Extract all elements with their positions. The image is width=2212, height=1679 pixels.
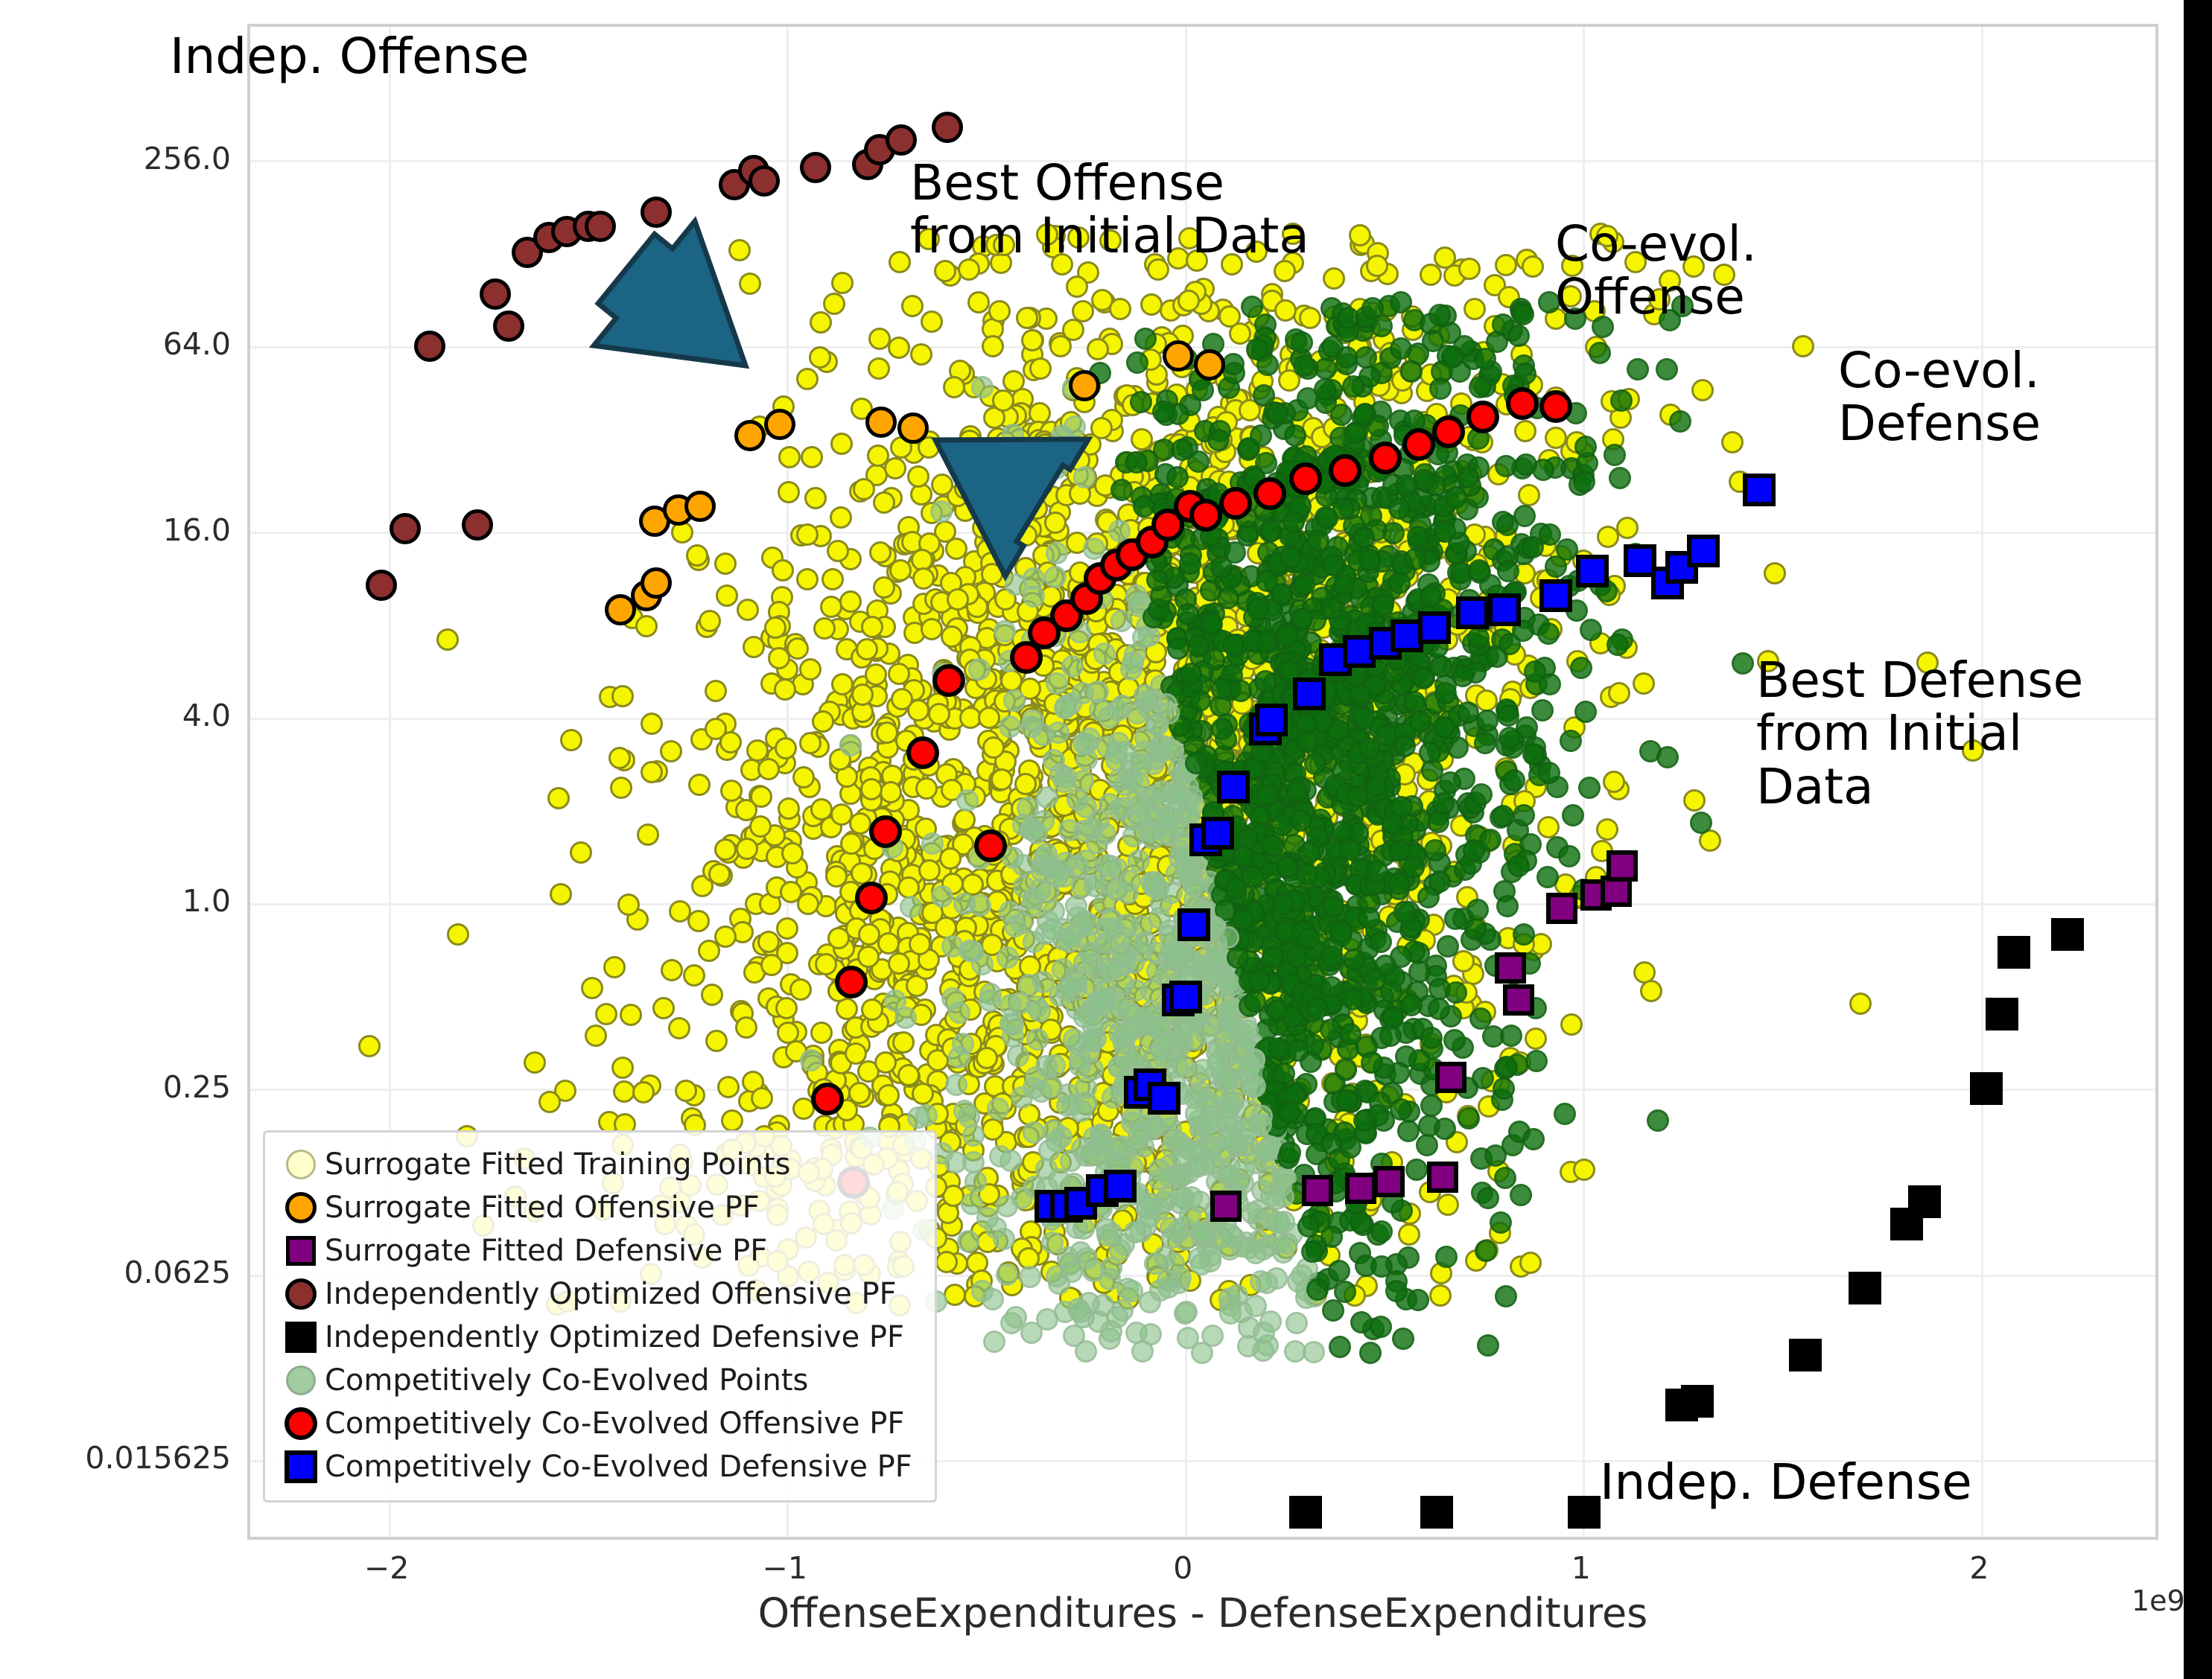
scatter-figure: 256.064.016.04.01.00.250.06250.015625 −2… — [0, 0, 2212, 1679]
